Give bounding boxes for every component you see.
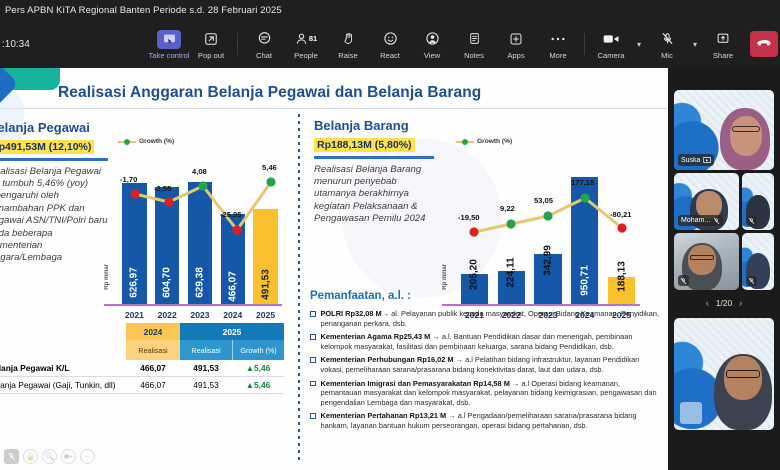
chart-left-axis: [104, 304, 282, 306]
participant-tile-3[interactable]: [742, 173, 774, 230]
window-title: Pers APBN KiTA Regional Banten Periode s…: [0, 5, 282, 16]
growth-line-legend-icon: [118, 141, 136, 143]
belanja-pegawai-heading: Belanja Pegawai: [0, 120, 108, 135]
people-count-badge: 81: [309, 34, 317, 43]
column-divider: [298, 114, 300, 464]
left-rule: [0, 158, 108, 161]
mic-muted-icon: [748, 277, 755, 285]
bullet-arrow-icon: →: [432, 332, 439, 341]
realisasi-table: 2024 2025 Realisasi Realisasi Growth (%)…: [0, 323, 284, 394]
participant-tile-mohamad[interactable]: Moham...: [674, 173, 739, 230]
glasses-icon: [690, 255, 714, 260]
search-icon[interactable]: 🔍: [42, 449, 57, 464]
row-label: Belanja Pegawai (Gaji, Tunkin, dll): [0, 377, 126, 393]
glasses-icon: [732, 126, 760, 132]
bullet-bold: POLRI Rp32,08 M: [321, 309, 382, 318]
growth-line-legend-icon: [456, 141, 474, 143]
participant-tile-suska[interactable]: Suska: [674, 90, 774, 170]
avatar-face: [688, 245, 716, 275]
notes-button[interactable]: Notes: [453, 27, 495, 62]
bullet-bold: Kementerian Pertahanan Rp13,21 M: [321, 411, 447, 420]
growth-value: -3,55: [154, 184, 171, 193]
chart-right-growth-line: [442, 160, 640, 306]
toolbar-divider-1: [237, 33, 238, 55]
x-tick: 2022: [151, 310, 184, 320]
chart-right-legend-label: Growth (%): [477, 138, 512, 145]
mic-label: Mic: [661, 51, 673, 60]
minimize-icon[interactable]: –: [80, 449, 95, 464]
share-label: Share: [713, 51, 733, 60]
meeting-toolbar: :10:34 Take control Pop out Chat: [0, 20, 780, 68]
camera-chevron-down-icon[interactable]: ▾: [632, 28, 646, 62]
pemanfaatan-block: Pemanfaatan, a.l. : POLRI Rp32,08 M→ al.…: [310, 290, 662, 431]
meeting-clock: :10:34: [0, 39, 148, 50]
list-item: Kementerian Agama Rp25,43 M → a.l. Bantu…: [310, 332, 662, 351]
table-col-2025: 2025: [180, 323, 284, 340]
raise-label: Raise: [338, 51, 357, 60]
toolbar-items: Take control Pop out Chat 81: [148, 27, 780, 62]
mic-muted-icon: [713, 217, 720, 225]
shared-content-stage[interactable]: Realisasi Anggaran Belanja Pegawai dan B…: [0, 68, 668, 470]
mic-muted-icon: [748, 217, 755, 225]
left-text-block: Belanja Pegawai Rp491,53M (12,10%) Reali…: [0, 120, 108, 265]
chat-label: Chat: [256, 51, 272, 60]
table-sub-growth-2025: Growth (%): [232, 340, 284, 360]
notes-icon: [461, 29, 487, 49]
table-row: Belanja Pegawai (Gaji, Tunkin, dll) 466,…: [0, 377, 284, 394]
react-button[interactable]: React: [369, 27, 411, 62]
camera-small-icon[interactable]: [61, 449, 76, 464]
bullet-square-icon: [310, 381, 316, 387]
right-text-block: Belanja Barang Rp188,13M (5,80%) Realisa…: [314, 118, 434, 226]
mic-button[interactable]: Mic: [646, 27, 688, 62]
row-2024-realisasi: 466,07: [126, 360, 180, 376]
row-2025-realisasi: 491,53: [180, 360, 232, 376]
more-ellipsis-icon: [545, 29, 571, 49]
list-item: Kementerian Imigrasi dan Pemasyarakatan …: [310, 379, 662, 408]
take-control-button[interactable]: Take control: [148, 28, 190, 62]
pop-out-button[interactable]: Pop out: [190, 27, 232, 62]
leave-call-icon: [757, 35, 772, 53]
share-screen-icon: [710, 29, 736, 49]
x-tick: 2025: [249, 310, 282, 320]
belanja-barang-heading: Belanja Barang: [314, 118, 434, 133]
table-col-2024: 2024: [126, 323, 180, 340]
avatar-face: [730, 116, 762, 156]
mic-chevron-down-icon[interactable]: ▾: [688, 28, 702, 62]
react-smiley-icon: [377, 29, 403, 49]
growth-value: -80,21: [610, 210, 632, 219]
window-titlebar: Pers APBN KiTA Regional Banten Periode s…: [0, 0, 780, 20]
participant-name-chip: [678, 275, 689, 286]
participant-tile-large[interactable]: [674, 318, 774, 430]
growth-value: 4,08: [192, 167, 207, 176]
participant-name-chip: [746, 216, 757, 226]
row-2024-realisasi: 466,07: [126, 377, 180, 393]
leave-call-button[interactable]: [750, 31, 778, 57]
slide-title-underline: [0, 108, 668, 109]
chart-right-legend: Growth (%): [456, 138, 512, 145]
chat-button[interactable]: Chat: [243, 27, 285, 62]
bullet-bold: Kementerian Perhubungan Rp16,02 M: [321, 355, 454, 364]
chart-belanja-pegawai: Growth (%) Rp miliar 626,97 604,70 629,3…: [104, 160, 282, 306]
table-sub-realisasi-2025: Realisasi: [180, 340, 232, 360]
people-button[interactable]: 81 People: [285, 27, 327, 62]
table-header-sub: Realisasi Realisasi Growth (%): [0, 340, 284, 360]
chart-left-legend-label: Growth (%): [139, 138, 174, 145]
participant-name-chip: Suska: [678, 154, 714, 166]
pop-out-icon: [198, 29, 224, 49]
camera-icon: [598, 29, 624, 49]
list-item: POLRI Rp32,08 M→ al. Pelayanan publik ke…: [310, 309, 662, 328]
slide-title: Realisasi Anggaran Belanja Pegawai dan B…: [58, 84, 658, 102]
row-label: Belanja Pegawai K/L: [0, 360, 126, 376]
table-header-years: 2024 2025: [0, 323, 284, 340]
bullet-square-icon: [310, 357, 316, 363]
chart-belanja-barang: Growth (%) Rp miliar 205,20 224,11 342,9…: [442, 160, 640, 306]
pager-label: 1/20: [716, 298, 733, 308]
bullet-bold: Kementerian Imigrasi dan Pemasyarakatan …: [321, 379, 510, 388]
view-button[interactable]: View: [411, 27, 453, 62]
people-label: People: [294, 51, 318, 60]
bullet-arrow-icon: →: [448, 411, 455, 420]
chart-left-xaxis: 2021 2022 2023 2024 2025: [118, 310, 282, 320]
pemanfaatan-title: Pemanfaatan, a.l. :: [310, 290, 662, 302]
belanja-pegawai-body: Realisasi Belanja Pegawai KL tumbuh 5,46…: [0, 166, 108, 265]
growth-value: 177,18: [571, 178, 594, 187]
camera-label: Camera: [597, 51, 624, 60]
apps-button[interactable]: Apps: [495, 27, 537, 62]
table-sub-realisasi-2024: Realisasi: [126, 340, 180, 360]
belanja-barang-body: Realisasi Belanja Barang menurun penyeba…: [314, 164, 434, 226]
more-label: More: [549, 51, 566, 60]
x-tick: 2024: [216, 310, 249, 320]
share-button[interactable]: Share: [702, 27, 744, 62]
presentation-slide: Realisasi Anggaran Belanja Pegawai dan B…: [0, 68, 668, 470]
row-2025-growth: ▲5,46: [232, 377, 284, 393]
mic-muted-icon: [680, 277, 687, 285]
belanja-pegawai-amount: Rp491,53M (12,10%): [0, 140, 94, 154]
bullet-arrow-icon: →: [512, 379, 519, 388]
chart-left-legend: Growth (%): [118, 138, 174, 145]
row-2025-realisasi: 491,53: [180, 377, 232, 393]
screen-share-control-icon: [157, 30, 181, 49]
avatar-face: [724, 356, 762, 400]
list-item: Kementerian Pertahanan Rp13,21 M → a.l P…: [310, 411, 662, 430]
rail-pager: ‹ 1/20 ›: [668, 298, 780, 308]
apps-plus-icon: [503, 29, 529, 49]
growth-value: -19,50: [458, 213, 480, 222]
raise-hand-icon: [335, 29, 361, 49]
camera-button[interactable]: Camera: [590, 27, 632, 62]
pager-prev-icon[interactable]: ‹: [706, 298, 709, 308]
growth-value: 53,05: [534, 196, 553, 205]
apps-label: Apps: [507, 51, 524, 60]
mic-muted-indicator-icon: [4, 449, 19, 464]
x-tick: 2021: [118, 310, 151, 320]
people-icon: 81: [293, 29, 319, 49]
bullet-square-icon: [310, 334, 316, 340]
participant-name-chip: [746, 276, 757, 286]
mic-muted-icon: [654, 29, 680, 49]
take-control-label: Take control: [149, 51, 190, 60]
growth-value: 9,22: [500, 204, 515, 213]
growth-value: -25,95: [220, 210, 242, 219]
bullet-square-icon: [310, 413, 316, 419]
table-row: Belanja Pegawai K/L 466,07 491,53 ▲5,46: [0, 360, 284, 377]
view-label: View: [424, 51, 440, 60]
lock-icon[interactable]: 🔒: [23, 449, 38, 464]
belanja-barang-amount: Rp188,13M (5,80%): [314, 138, 415, 152]
bullet-arrow-icon: →: [382, 309, 389, 318]
stage-hover-controls[interactable]: 🔒 🔍 –: [4, 449, 95, 464]
view-icon: [419, 29, 445, 49]
pager-next-icon[interactable]: ›: [739, 298, 742, 308]
list-item: Kementerian Perhubungan Rp16,02 M → a.l …: [310, 355, 662, 374]
participant-tile-4[interactable]: [674, 233, 739, 290]
teams-meeting-window: Pers APBN KiTA Regional Banten Periode s…: [0, 0, 780, 470]
growth-value: 5,46: [262, 163, 277, 172]
react-label: React: [380, 51, 400, 60]
right-rule: [314, 156, 434, 159]
logo-watermark: [680, 402, 702, 424]
participant-rail: Suska Moham...: [668, 68, 780, 470]
row-2025-growth: ▲5,46: [232, 360, 284, 376]
bullet-arrow-icon: →: [456, 355, 463, 364]
participant-name: Suska: [681, 157, 700, 164]
participant-tile-5[interactable]: [742, 233, 774, 290]
chat-icon: [251, 29, 277, 49]
pop-out-label: Pop out: [198, 51, 224, 60]
participant-name: Moham...: [681, 217, 710, 224]
notes-label: Notes: [464, 51, 484, 60]
screen-share-icon: [703, 157, 711, 164]
raise-hand-button[interactable]: Raise: [327, 27, 369, 62]
bullet-bold: Kementerian Agama Rp25,43 M: [321, 332, 431, 341]
bullet-square-icon: [310, 311, 316, 317]
x-tick: 2023: [184, 310, 217, 320]
glasses-icon: [726, 370, 760, 378]
toolbar-divider-2: [584, 33, 585, 55]
more-button[interactable]: More: [537, 27, 579, 62]
participant-name-chip: Moham...: [678, 215, 723, 226]
growth-value: -1,70: [120, 175, 137, 184]
